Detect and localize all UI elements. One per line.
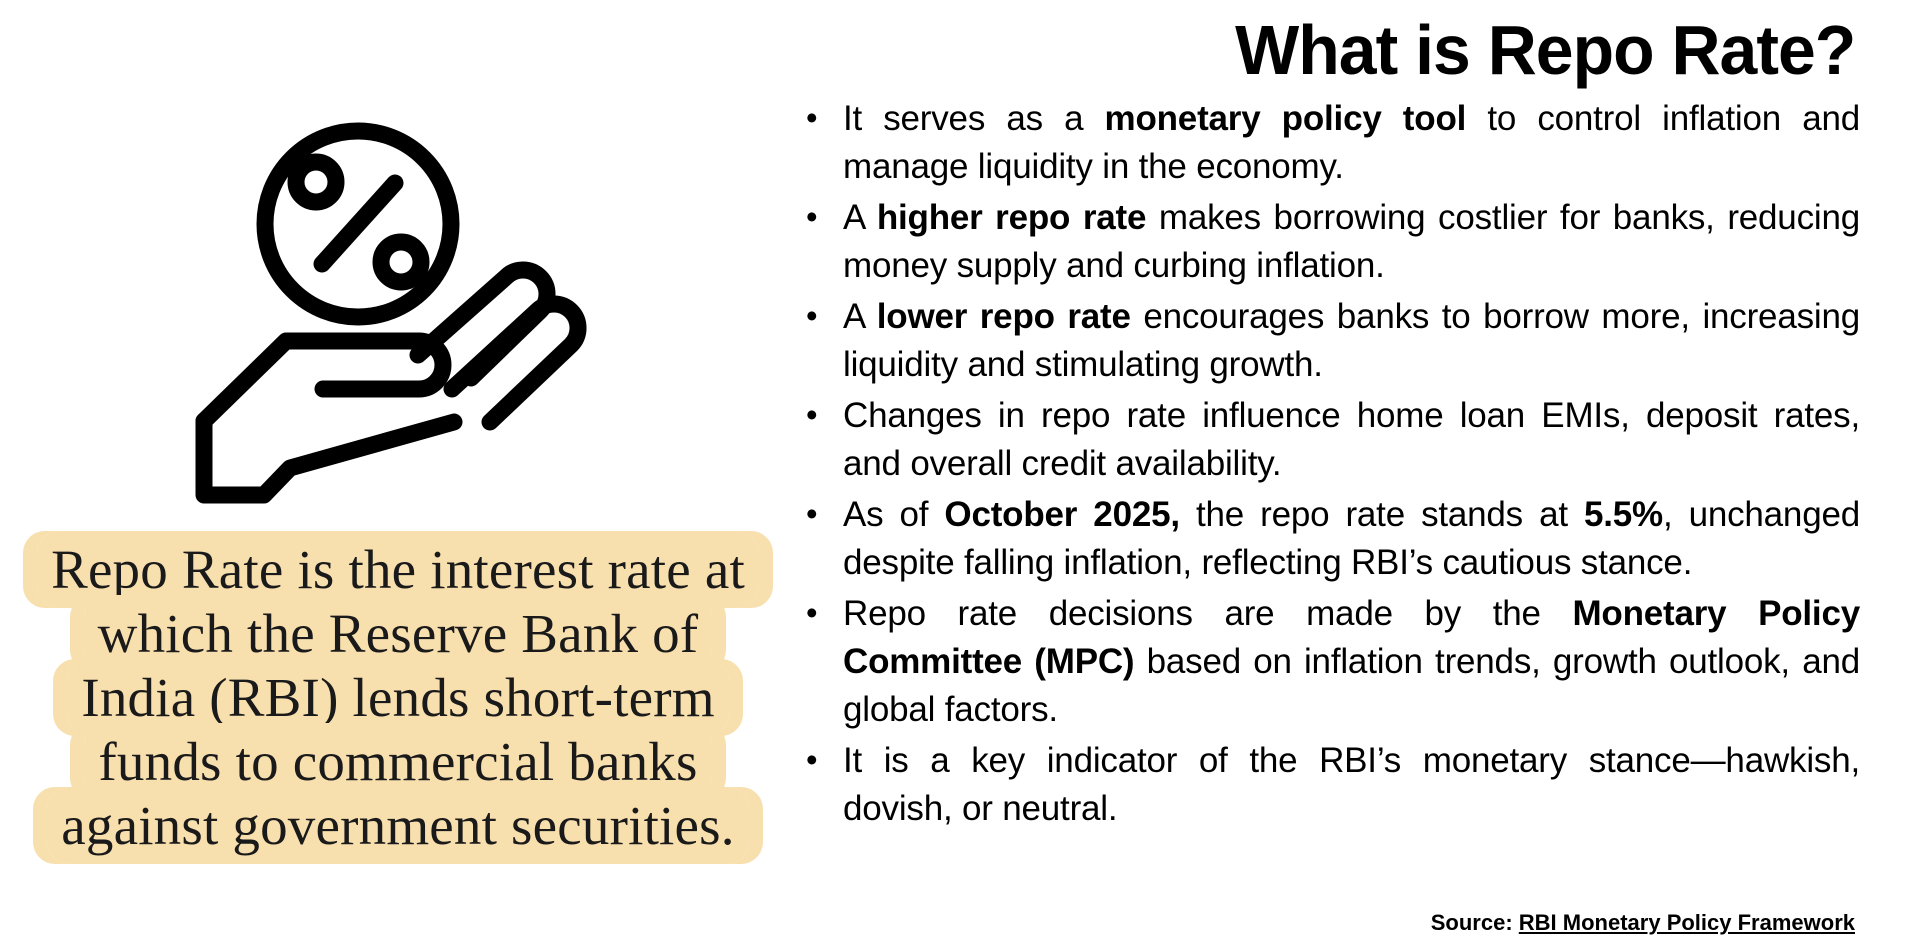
infographic-slide: Repo Rate is the interest rate at which … — [0, 0, 1911, 948]
list-item: A higher repo rate makes borrowing costl… — [800, 194, 1860, 290]
repo-rate-definition-callout: Repo Rate is the interest rate at which … — [34, 538, 762, 858]
source-label: Source: — [1431, 910, 1513, 935]
list-item: Changes in repo rate influence home loan… — [800, 392, 1860, 488]
list-item: Repo rate decisions are made by the Mone… — [800, 590, 1860, 734]
left-panel: Repo Rate is the interest rate at which … — [0, 0, 790, 948]
emphasis-text: October 2025, — [944, 495, 1179, 534]
body-text: Repo rate decisions are made by the — [843, 594, 1572, 633]
definition-text: Repo Rate is the interest rate at which … — [34, 538, 762, 858]
body-text: It serves as a — [843, 99, 1105, 138]
list-item: It is a key indicator of the RBI’s monet… — [800, 737, 1860, 833]
body-text: A — [843, 198, 877, 237]
body-text: It is a key indicator of the RBI’s monet… — [843, 741, 1860, 828]
page-title: What is Repo Rate? — [1235, 8, 1855, 92]
body-text: the repo rate stands at — [1180, 495, 1584, 534]
definition-highlight: Repo Rate is the interest rate at which … — [37, 531, 759, 864]
body-text: Changes in repo rate influence home loan… — [843, 396, 1860, 483]
list-item: It serves as a monetary policy tool to c… — [800, 95, 1860, 191]
repo-rate-facts-list: It serves as a monetary policy tool to c… — [800, 95, 1860, 836]
emphasis-text: lower repo rate — [877, 297, 1131, 336]
right-panel: What is Repo Rate? It serves as a moneta… — [790, 0, 1911, 948]
source-link[interactable]: RBI Monetary Policy Framework — [1519, 910, 1855, 935]
body-text: As of — [843, 495, 944, 534]
body-text: A — [843, 297, 877, 336]
list-item: A lower repo rate encourages banks to bo… — [800, 293, 1860, 389]
emphasis-text: higher repo rate — [877, 198, 1146, 237]
source-attribution: Source: RBI Monetary Policy Framework — [1431, 908, 1855, 938]
list-item: As of October 2025, the repo rate stands… — [800, 491, 1860, 587]
emphasis-text: 5.5% — [1584, 495, 1663, 534]
hand-holding-percent-icon — [190, 110, 610, 520]
emphasis-text: monetary policy tool — [1105, 99, 1467, 138]
